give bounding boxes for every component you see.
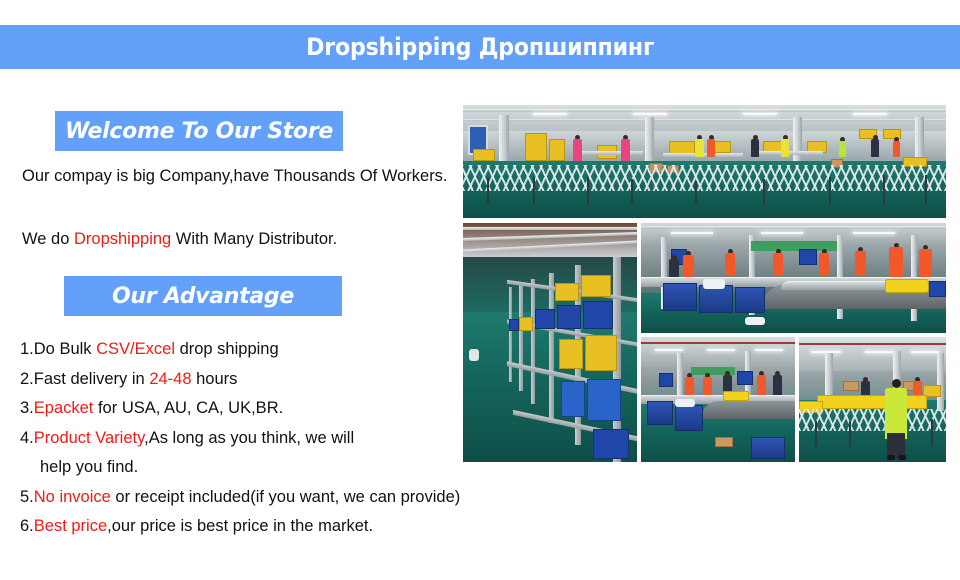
storage-racking-aisle-photo [463,223,637,462]
page-header-banner: Dropshipping Дропшиппинг [0,25,960,69]
intro-paragraph-1: Our compay is big Company,have Thousands… [22,161,462,191]
left-content-column: Welcome To Our Store Our compay is big C… [0,95,460,565]
list-item-highlight: Epacket [34,399,94,417]
warehouse-panorama-photo [463,105,946,218]
intro-paragraph-2-highlight: Dropshipping [74,230,171,248]
list-item-highlight: CSV/Excel [96,340,175,358]
list-item-number: 3. [20,399,34,417]
list-item-highlight: Product Variety [34,429,144,447]
page-title: Dropshipping Дропшиппинг [306,33,654,61]
list-item-pre: Do Bulk [34,340,96,358]
list-item-pre: Fast delivery in [34,370,150,388]
list-item: 6.Best price,our price is best price in … [20,512,580,542]
list-item-highlight: 24-48 [149,370,191,388]
list-item-post: for USA, AU, CA, UK,BR. [93,399,283,417]
worker-at-conveyor-photo [799,337,946,462]
list-item-number: 1. [20,340,34,358]
advantage-section-banner: Our Advantage [64,276,342,316]
intro-paragraph-2-post: With Many Distributor. [171,230,337,248]
list-item-number: 6. [20,517,34,535]
list-item-post: ,our price is best price in the market. [107,517,373,535]
welcome-section-banner: Welcome To Our Store [55,111,343,151]
list-item-number: 4. [20,429,34,447]
list-item-number: 5. [20,488,34,506]
intro-paragraph-1-text: Our compay is big Company,have Thousands… [22,167,448,185]
list-item: 5.No invoice or receipt included(if you … [20,483,580,513]
welcome-banner-label: Welcome To Our Store [65,119,333,144]
photo-collage [463,105,946,462]
sorting-conveyor-line-photo [641,223,946,333]
list-item-post: ,As long as you think, we will [144,429,354,447]
list-item-post: hours [192,370,238,388]
list-item-post: drop shipping [175,340,279,358]
packing-line-photo [641,337,795,462]
list-item-highlight: No invoice [34,488,111,506]
list-item-post: or receipt included(if you want, we can … [111,488,460,506]
intro-paragraph-2: We do Dropshipping With Many Distributor… [22,224,462,254]
advantage-banner-label: Our Advantage [112,284,294,309]
list-item-number: 2. [20,370,34,388]
intro-paragraph-2-pre: We do [22,230,74,248]
list-item-highlight: Best price [34,517,107,535]
